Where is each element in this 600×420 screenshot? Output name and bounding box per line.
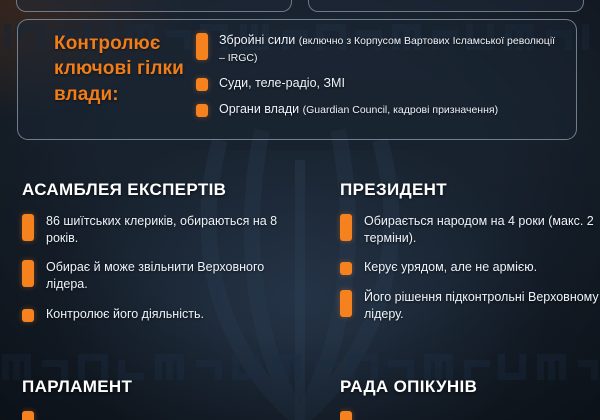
bullet-marker-icon — [22, 260, 34, 287]
list-item-label: Його рішення підконтрольні Верховному лі… — [352, 289, 600, 322]
infographic-canvas: Контролює ключові гілки влади: Збройні с… — [0, 0, 600, 420]
section-bullet-list: 86 шиїтських клериків, обираються на 8 р… — [22, 213, 294, 322]
list-item-label: Суди, теле-радіо, ЗМІ — [208, 75, 345, 92]
list-item-label: Контролює його діяльність. — [34, 306, 204, 323]
bullet-marker-icon — [196, 78, 208, 91]
list-item — [340, 410, 600, 420]
list-item-label: 86 шиїтських клериків, обираються на 8 р… — [34, 213, 294, 246]
controls-branches-panel: Контролює ключові гілки влади: Збройні с… — [17, 19, 577, 140]
section-assembly-of-experts: АСАМБЛЕЯ ЕКСПЕРТІВ 86 шиїтських клериків… — [22, 180, 294, 335]
section-title: АСАМБЛЕЯ ЕКСПЕРТІВ — [22, 180, 294, 200]
panel-bullet-list: Збройні сили (включно з Корпусом Вартови… — [188, 20, 576, 126]
bullet-marker-icon — [22, 214, 34, 241]
list-item: Органи влади (Guardian Council, кадрові … — [196, 101, 562, 118]
list-item-main: Органи влади — [219, 102, 303, 116]
section-bullet-list: Обирається народом на 4 роки (макс. 2 те… — [340, 213, 600, 322]
list-item: Суди, теле-радіо, ЗМІ — [196, 75, 562, 92]
bullet-marker-icon — [22, 309, 34, 322]
section-bullet-list — [340, 410, 600, 420]
section-president: ПРЕЗИДЕНТ Обирається народом на 4 роки (… — [340, 180, 600, 335]
bullet-marker-icon — [340, 290, 352, 317]
list-item-label: Обирає й може звільнити Верховного лідер… — [34, 259, 294, 292]
list-item-label: Органи влади (Guardian Council, кадрові … — [208, 101, 498, 118]
list-item: Обирає й може звільнити Верховного лідер… — [22, 259, 294, 292]
list-item: 86 шиїтських клериків, обираються на 8 р… — [22, 213, 294, 246]
list-item-main: Збройні сили — [219, 33, 299, 47]
list-item-sub: (Guardian Council, кадрові призначення) — [303, 104, 498, 116]
section-guardian-council: РАДА ОПІКУНІВ — [340, 377, 600, 420]
section-title: РАДА ОПІКУНІВ — [340, 377, 600, 397]
bullet-marker-icon — [22, 411, 34, 420]
top-card-left-cutoff — [16, 0, 292, 12]
bullet-marker-icon — [340, 411, 352, 420]
section-title: ПРЕЗИДЕНТ — [340, 180, 600, 200]
list-item: Контролює його діяльність. — [22, 306, 294, 323]
list-item-label: Обирається народом на 4 роки (макс. 2 те… — [352, 213, 600, 246]
bullet-marker-icon — [340, 262, 352, 275]
list-item-main: Суди, теле-радіо, ЗМІ — [219, 76, 345, 90]
bullet-marker-icon — [196, 33, 208, 60]
list-item: Керує урядом, але не армією. — [340, 259, 600, 276]
list-item — [22, 410, 294, 420]
top-card-right-cutoff — [308, 0, 584, 12]
top-cards-row — [16, 0, 584, 12]
section-title: ПАРЛАМЕНТ — [22, 377, 294, 397]
list-item: Обирається народом на 4 роки (макс. 2 те… — [340, 213, 600, 246]
list-item: Збройні сили (включно з Корпусом Вартови… — [196, 32, 562, 66]
list-item: Його рішення підконтрольні Верховному лі… — [340, 289, 600, 322]
section-parliament: ПАРЛАМЕНТ — [22, 377, 294, 420]
panel-title: Контролює ключові гілки влади: — [18, 20, 188, 107]
list-item-label: Керує урядом, але не армією. — [352, 259, 537, 276]
section-bullet-list — [22, 410, 294, 420]
bullet-marker-icon — [340, 214, 352, 241]
list-item-label: Збройні сили (включно з Корпусом Вартови… — [208, 32, 562, 66]
bullet-marker-icon — [196, 104, 208, 117]
